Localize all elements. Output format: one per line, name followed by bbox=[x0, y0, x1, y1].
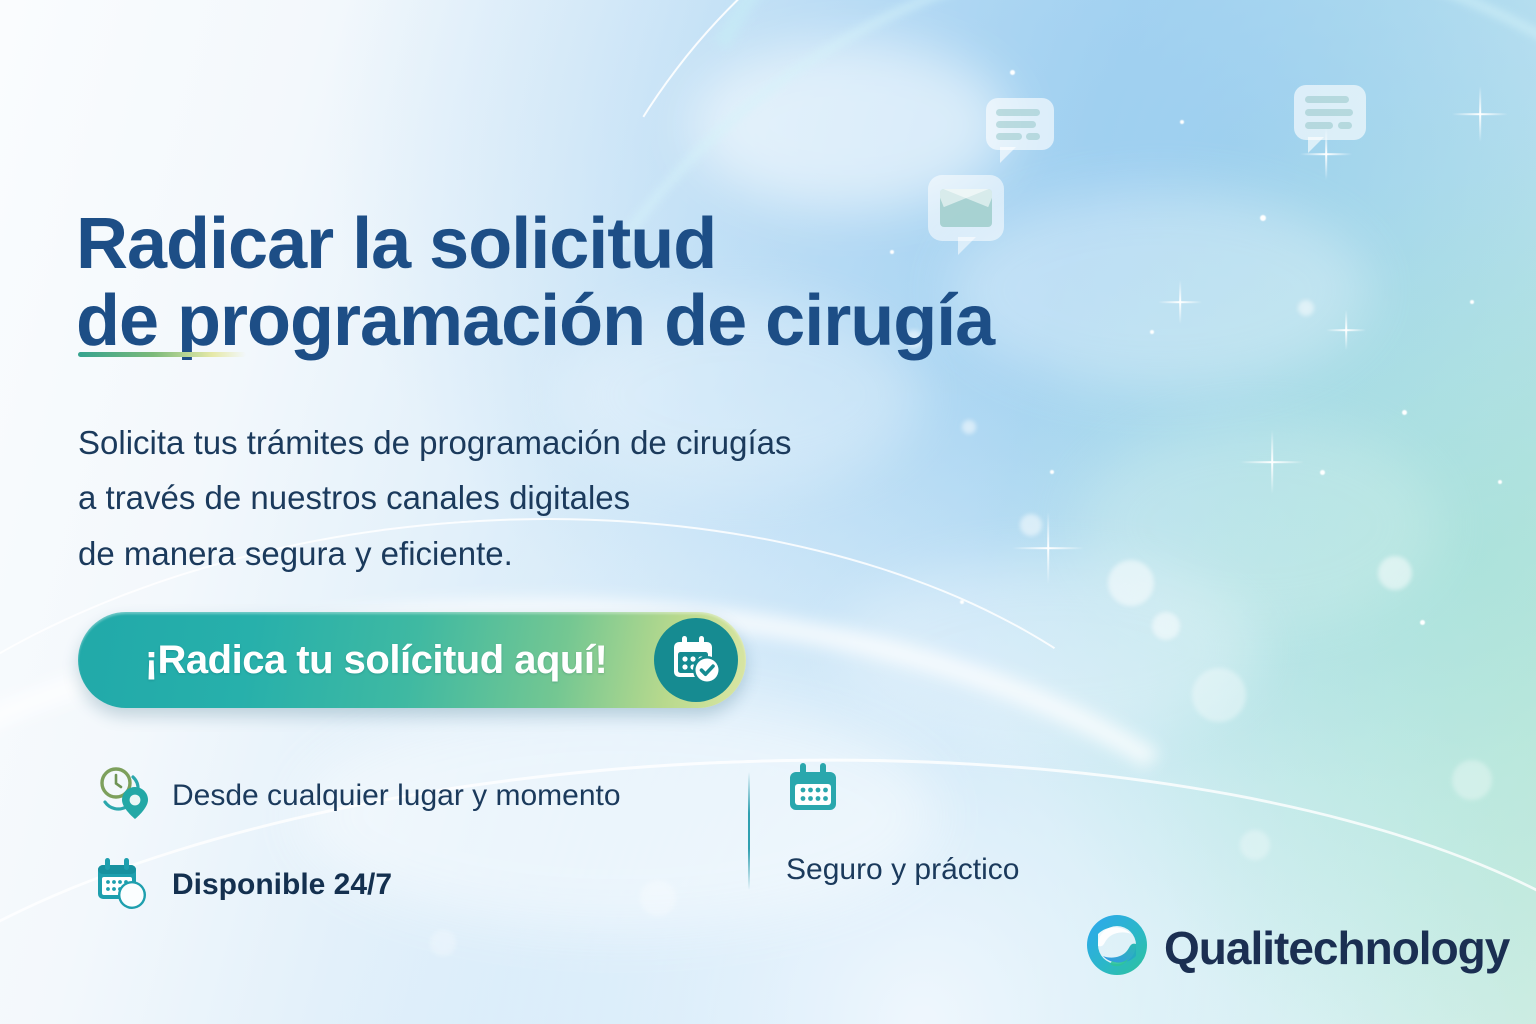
radica-solicitud-button[interactable]: ¡Radica tu solícitud aquí! bbox=[78, 612, 746, 708]
headline-line-1: Radicar la solicitud bbox=[76, 204, 716, 284]
swirl-circle-logo-mark bbox=[1084, 912, 1150, 983]
subtitle-line-2: a través de nuestros canales digitales bbox=[78, 470, 998, 525]
feature-label: Seguro y práctico bbox=[786, 853, 1019, 886]
feature-item-anywhere: Desde cualquier lugar y momento bbox=[92, 762, 732, 829]
banner-content: Radicar la solicitud de programación de … bbox=[0, 0, 1536, 1024]
column-divider bbox=[748, 772, 750, 890]
feature-label: Disponible 24/7 bbox=[172, 868, 392, 902]
feature-list-right: Seguro y práctico bbox=[786, 760, 1206, 887]
subtitle: Solicita tus trámites de programación de… bbox=[78, 415, 998, 581]
page-title: Radicar la solicitud de programación de … bbox=[76, 206, 1156, 359]
calendar-check-icon bbox=[654, 618, 738, 702]
promo-banner: Radicar la solicitud de programación de … bbox=[0, 0, 1536, 1024]
subtitle-line-3: de manera segura y eficiente. bbox=[78, 526, 998, 581]
headline-line-2: de programación de cirugía bbox=[76, 283, 1156, 359]
brand-logo: Qualitechnology bbox=[1084, 912, 1509, 983]
cta-label: ¡Radica tu solícitud aquí! bbox=[78, 638, 654, 683]
brand-name: Qualitechnology bbox=[1164, 921, 1509, 975]
feature-label: Desde cualquier lugar y momento bbox=[172, 779, 621, 813]
feature-item-availability: Disponible 24/7 bbox=[92, 851, 732, 918]
calendar-clock-icon bbox=[92, 851, 154, 918]
clock-location-icon bbox=[92, 762, 154, 829]
feature-list-left: Desde cualquier lugar y momento bbox=[92, 762, 732, 940]
calendar-icon bbox=[786, 760, 1206, 819]
subtitle-line-1: Solicita tus trámites de programación de… bbox=[78, 415, 998, 470]
accent-divider bbox=[78, 352, 246, 357]
